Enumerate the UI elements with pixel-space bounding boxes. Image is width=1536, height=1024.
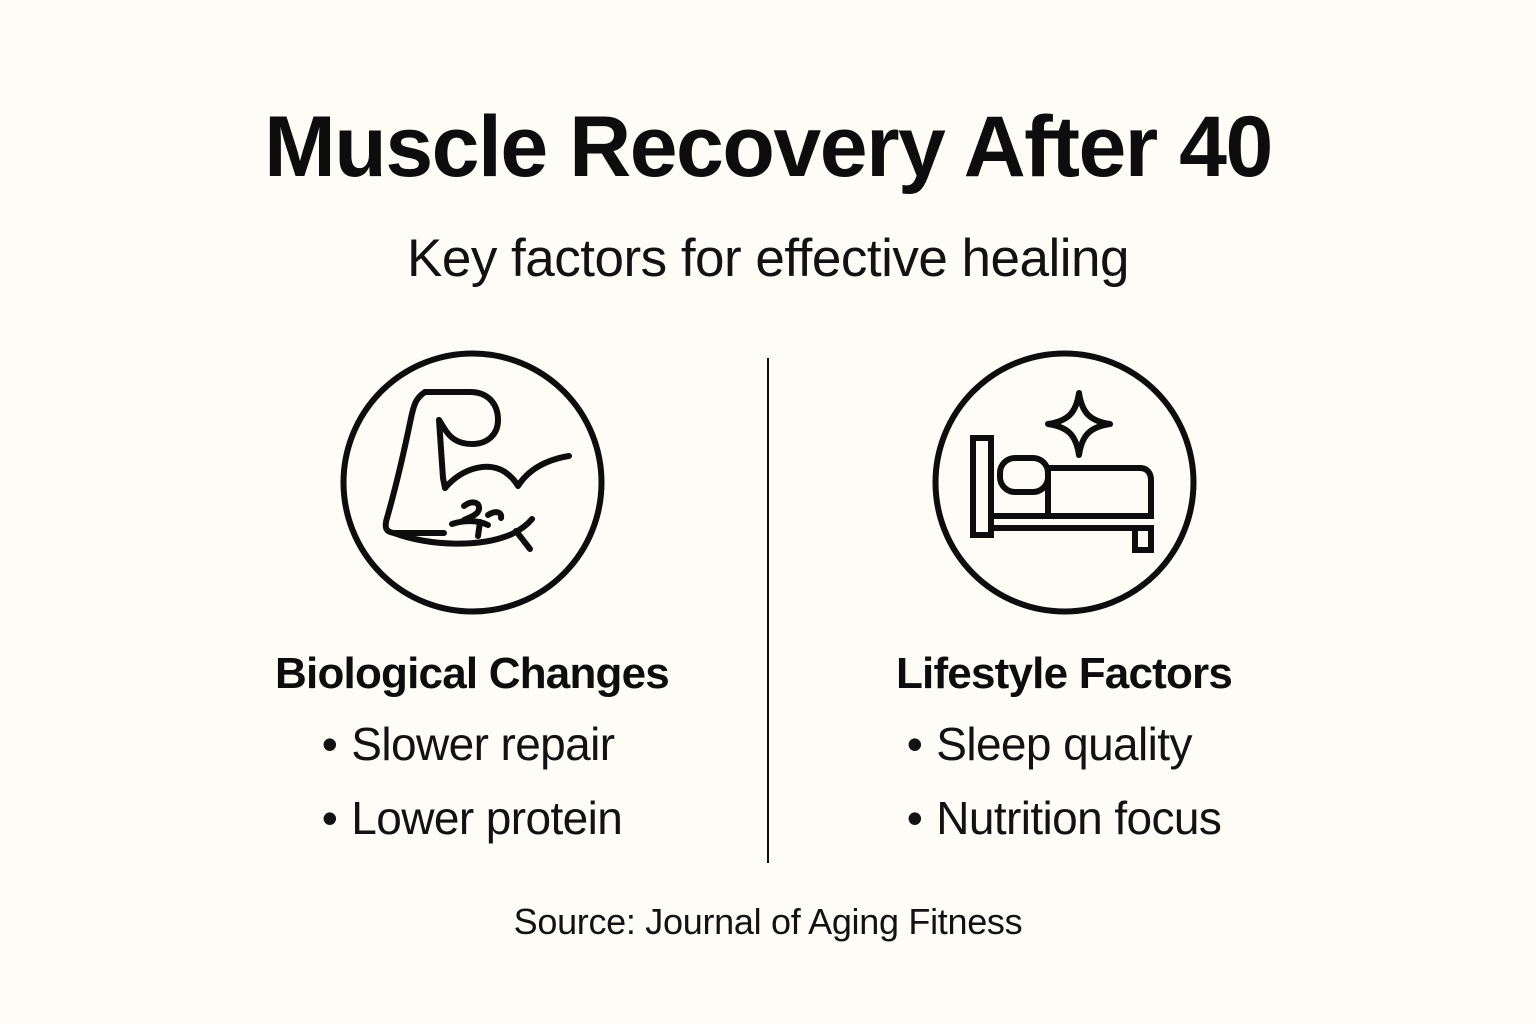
bullet-text: Nutrition focus xyxy=(936,795,1221,841)
column-heading-lifestyle-factors: Lifestyle Factors xyxy=(896,615,1232,699)
source-caption: Source: Journal of Aging Fitness xyxy=(0,901,1536,943)
bed-sleep-icon xyxy=(932,350,1197,615)
bullet-list-lifestyle-factors: • Sleep quality • Nutrition focus xyxy=(907,699,1222,869)
list-item: • Sleep quality xyxy=(907,721,1222,795)
infographic-canvas: Muscle Recovery After 40 Key factors for… xyxy=(0,0,1536,1024)
list-item: • Lower protein xyxy=(322,795,622,869)
bullet-text: Slower repair xyxy=(351,721,614,767)
bullet-dot-icon: • xyxy=(907,795,937,841)
column-biological-changes: Biological Changes • Slower repair • Low… xyxy=(177,350,767,869)
page-title: Muscle Recovery After 40 xyxy=(0,104,1536,190)
page-subtitle: Key factors for effective healing xyxy=(0,190,1536,285)
columns-container: Biological Changes • Slower repair • Low… xyxy=(0,350,1536,870)
column-lifestyle-factors: Lifestyle Factors • Sleep quality • Nutr… xyxy=(769,350,1359,869)
bullet-dot-icon: • xyxy=(322,795,352,841)
bullet-text: Lower protein xyxy=(351,795,622,841)
list-item: • Slower repair xyxy=(322,721,622,795)
bullet-dot-icon: • xyxy=(907,721,937,767)
bullet-list-biological-changes: • Slower repair • Lower protein xyxy=(322,699,622,869)
header: Muscle Recovery After 40 Key factors for… xyxy=(0,104,1536,285)
bullet-dot-icon: • xyxy=(322,721,352,767)
flexed-bicep-icon xyxy=(340,350,605,615)
bullet-text: Sleep quality xyxy=(936,721,1192,767)
column-heading-biological-changes: Biological Changes xyxy=(275,615,669,699)
list-item: • Nutrition focus xyxy=(907,795,1222,869)
